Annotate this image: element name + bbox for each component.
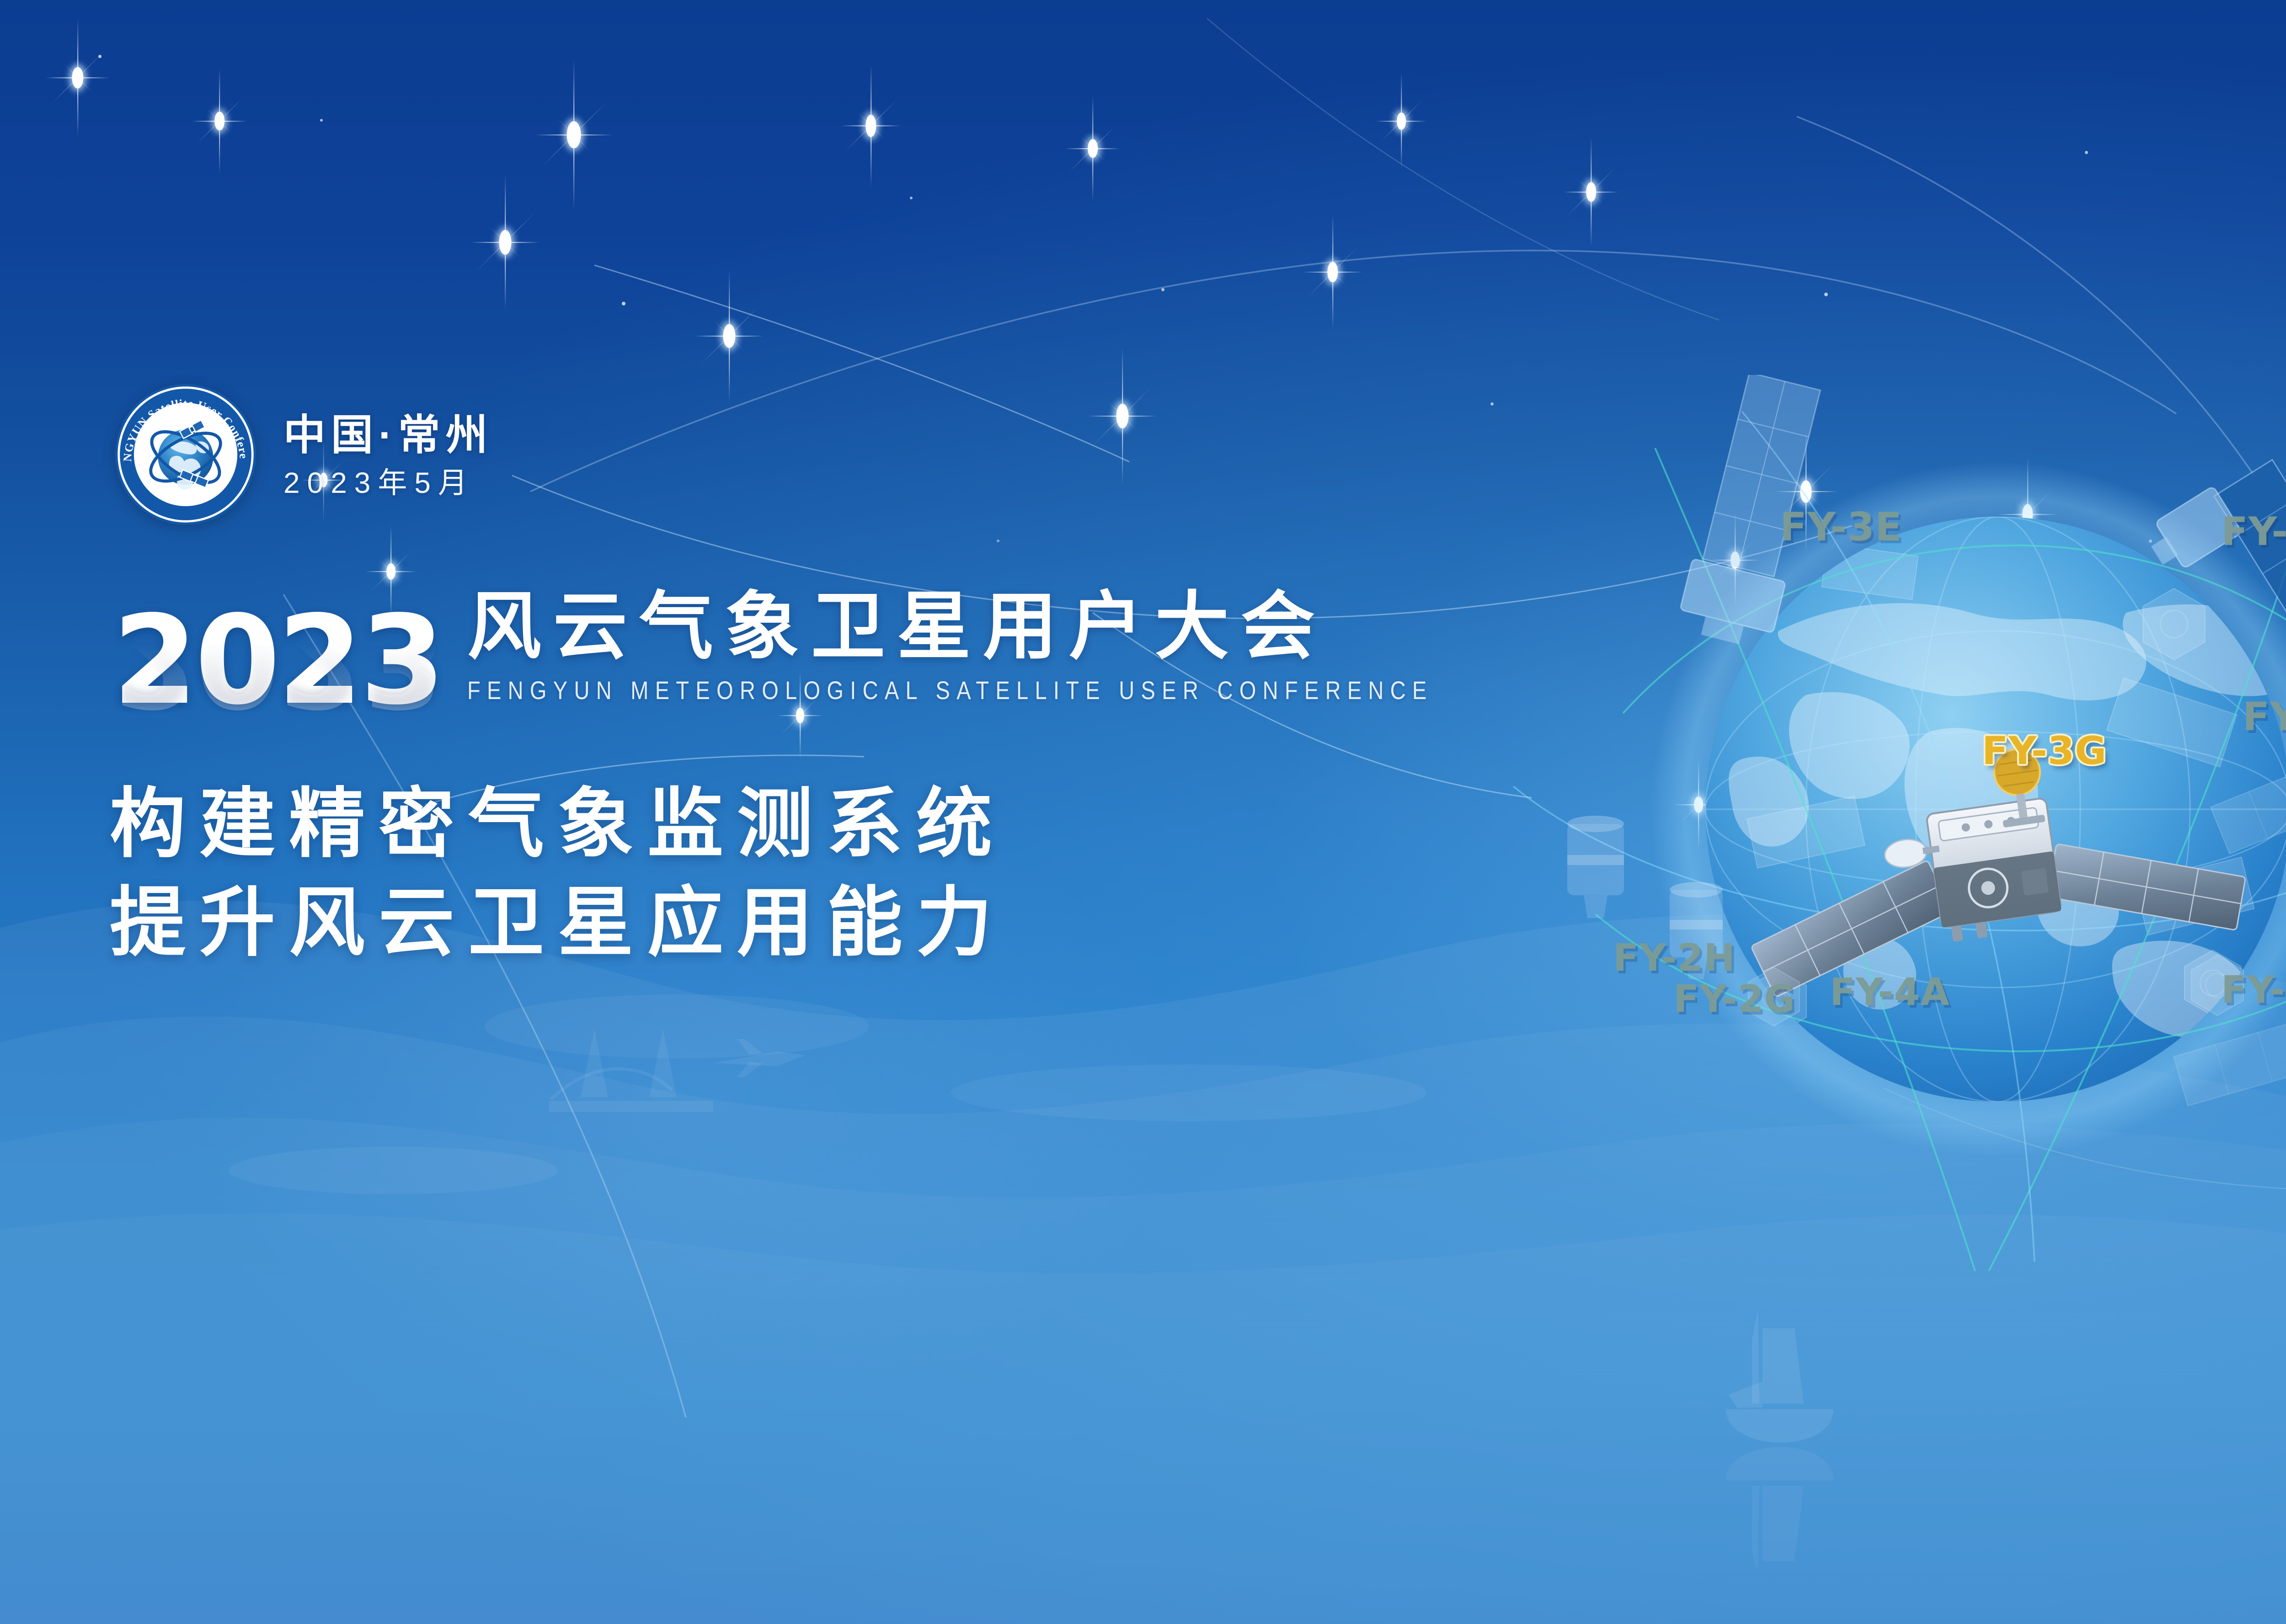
star-dot — [1161, 288, 1164, 291]
satellite-label-fy4b: FY-4B — [2221, 972, 2286, 1009]
conference-poster: FY-3E FY-3C FY-3D FY-3G FY-2H FY-2G FY-4… — [0, 0, 2286, 1624]
star-dot — [1824, 293, 1828, 296]
conference-name-en: FENGYUN METEOROLOGICAL SATELLITE USER CO… — [467, 678, 1433, 703]
satellite-fy3d-illustration — [2207, 734, 2286, 860]
bridge-silhouette — [549, 1029, 713, 1112]
satellite-label-fy3g: FY-3G — [1982, 732, 2107, 770]
slogan-line-2: 提升风云卫星应用能力 — [110, 874, 1006, 972]
sky-glow-primary — [1258, 455, 2286, 1232]
star-sparkle — [1376, 73, 1426, 169]
sailboat-silhouette — [1682, 1285, 1939, 1568]
star-sparkle — [1088, 347, 1157, 485]
conference-name-cn: 风云气象卫星用户大会 — [467, 590, 1617, 664]
main-title-row: 2023 2023 风云气象卫星用户大会 FENGYUN METEOROLOGI… — [112, 590, 1617, 711]
satellite-fy3c-illustration — [2142, 452, 2286, 694]
host-city-label: 中国·常州 — [283, 414, 493, 456]
star-dot — [2085, 151, 2088, 154]
host-city-block: 中国·常州 2023年5月 — [283, 411, 493, 497]
conference-date-label: 2023年5月 — [283, 468, 493, 497]
star-sparkle — [1303, 215, 1362, 329]
star-dot — [622, 302, 625, 305]
satellite-label-fy2h: FY-2H — [1613, 940, 1736, 977]
star-sparkle — [1065, 96, 1120, 201]
star-dot — [2149, 540, 2152, 543]
title-text-block: 风云气象卫星用户大会 FENGYUN METEOROLOGICAL SATELL… — [467, 590, 1617, 711]
star-dot — [320, 119, 323, 122]
star-sparkle — [471, 174, 539, 311]
satellite-label-fy3e: FY-3E — [1780, 507, 1902, 547]
star-sparkle — [1564, 137, 1618, 247]
title-year: 2023 2023 — [112, 611, 443, 711]
star-dot — [910, 197, 913, 199]
star-sparkle — [46, 18, 110, 137]
star-sparkle — [1998, 457, 2057, 572]
star-sparkle — [695, 270, 764, 402]
poster-header: FENGYUN Satellite User Conference Changz… — [114, 383, 493, 526]
star-sparkle — [192, 69, 247, 174]
star-sparkle — [535, 59, 613, 210]
aircraft-silhouette — [713, 1039, 806, 1077]
slogan-block: 构建精密气象监测系统 提升风云卫星应用能力 — [110, 775, 1006, 972]
slogan-line-1: 构建精密气象监测系统 — [110, 775, 1006, 874]
conference-emblem-logo: FENGYUN Satellite User Conference Changz… — [114, 383, 257, 526]
satellite-label-fy2g: FY-2G — [1673, 981, 1795, 1018]
star-dot — [997, 540, 999, 542]
satellite-label-fy3c: FY-3C — [2221, 512, 2286, 551]
star-sparkle — [1673, 759, 1724, 850]
title-year-text: 2023 — [112, 589, 443, 732]
satellite-label-fy4a: FY-4A — [1830, 974, 1950, 1011]
star-dot — [1490, 402, 1494, 406]
satellite-label-fy3d: FY-3D — [2243, 697, 2286, 737]
star-dot — [98, 55, 101, 58]
star-sparkle — [1710, 512, 1760, 608]
satellite-fy4b-illustration — [2174, 1020, 2286, 1106]
star-sparkle — [841, 64, 901, 187]
